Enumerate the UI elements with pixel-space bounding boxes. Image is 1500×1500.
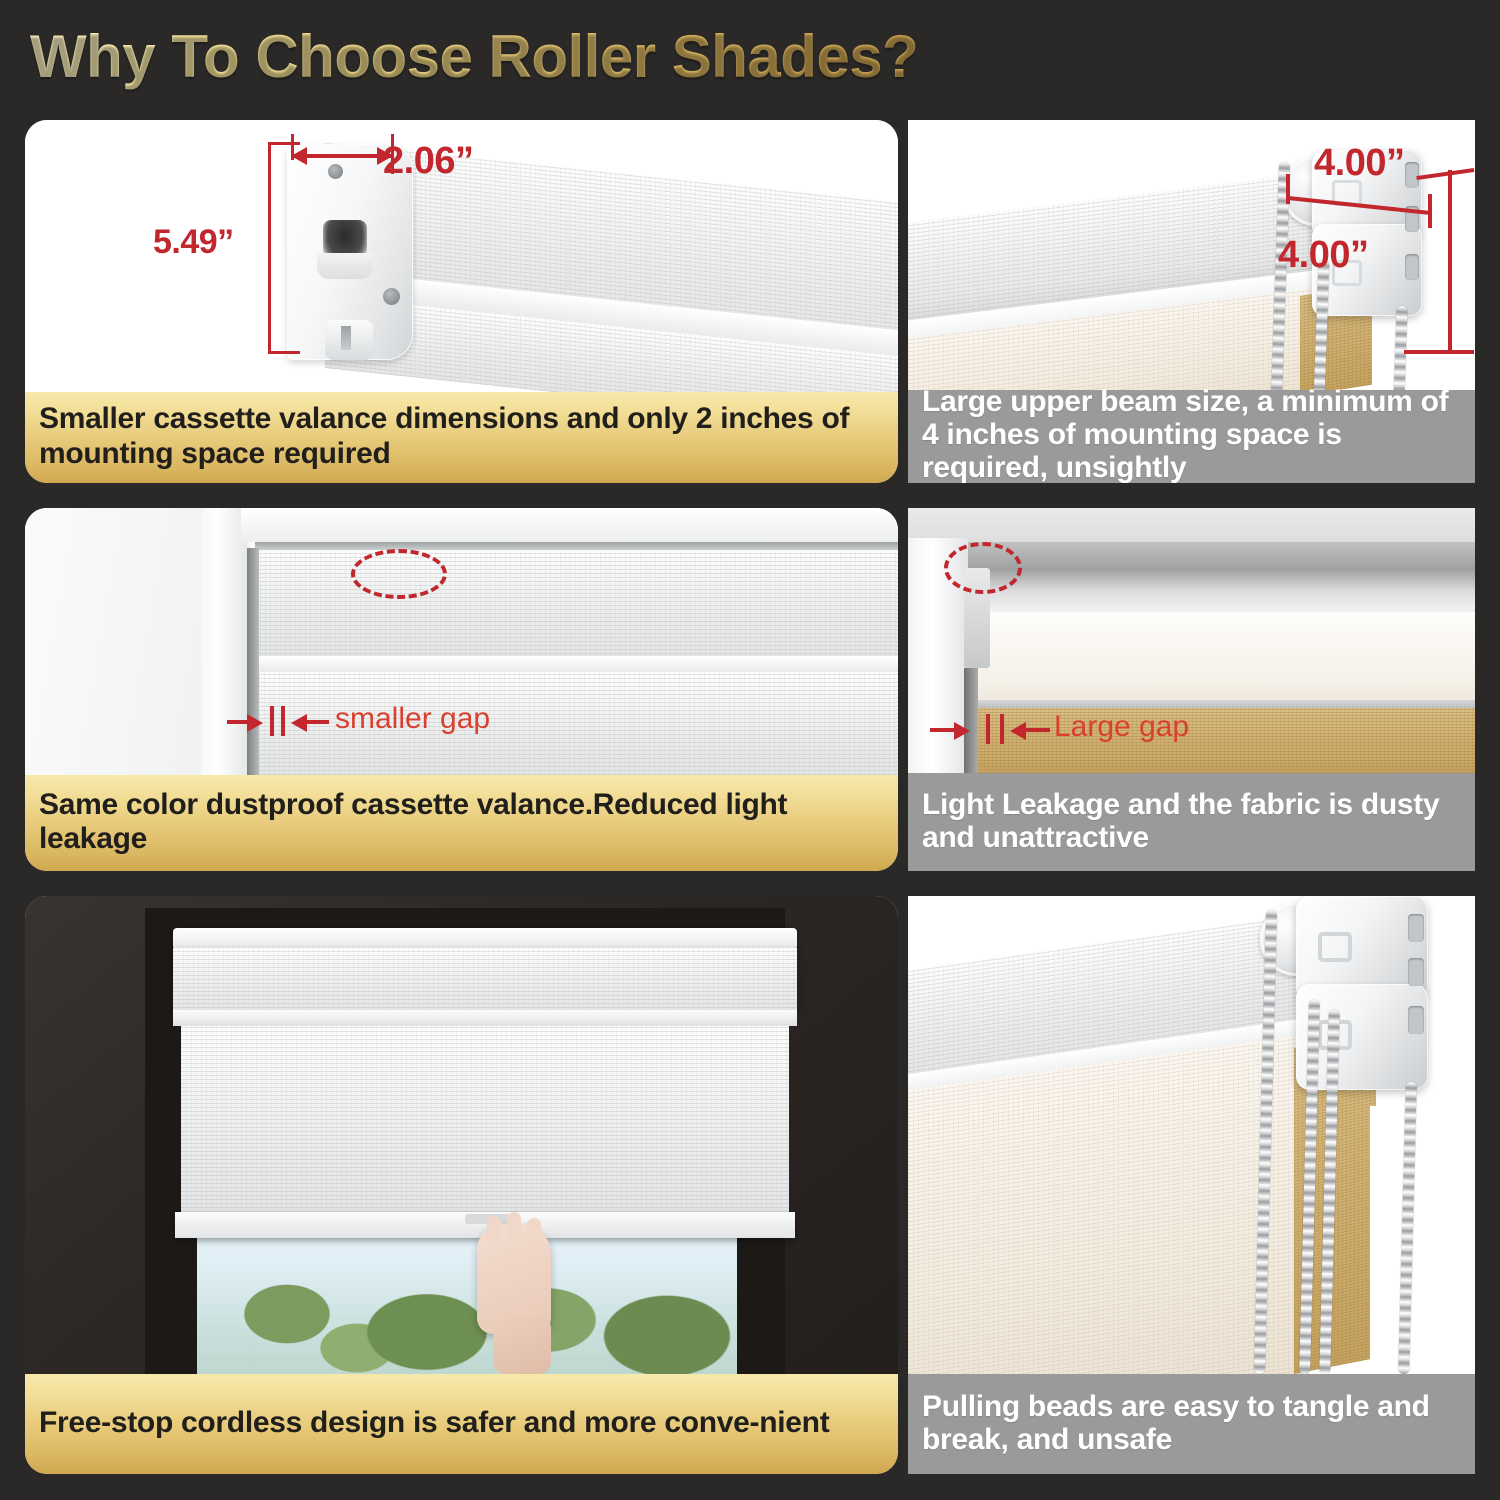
bracket-slot-1 xyxy=(1408,914,1424,942)
beam-width-label: 4.00” xyxy=(1314,142,1404,185)
highlight-ring xyxy=(351,549,447,599)
fabric-white-band xyxy=(964,612,1475,704)
width-dimension-label: 2.06” xyxy=(383,140,473,183)
clutch-shroud xyxy=(317,253,373,279)
panel-6-photo xyxy=(908,896,1475,1374)
screw-middle-icon xyxy=(383,288,400,305)
valance-top-edge xyxy=(255,542,898,550)
highlight-ring xyxy=(944,542,1022,594)
beam-height-line xyxy=(1448,170,1452,352)
finger-3 xyxy=(527,1218,541,1244)
panel-6-caption: Pulling beads are easy to tangle and bre… xyxy=(908,1374,1475,1474)
large-gap-label: Large gap xyxy=(1054,710,1189,744)
screw-top-icon xyxy=(328,164,343,179)
bottom-bracket-pin xyxy=(341,326,351,350)
gap-arrow-right-icon xyxy=(954,722,970,740)
tan-fabric xyxy=(968,708,1475,773)
bracket-emboss-1-icon xyxy=(1318,932,1352,962)
panel-3-caption-text: Same color dustproof cassette valance.Re… xyxy=(39,788,884,856)
panel-pulling-beads: Pulling beads are easy to tangle and bre… xyxy=(908,896,1475,1474)
gap-arrow-left-tail xyxy=(1026,728,1050,732)
height-dimension-label: 5.49” xyxy=(153,223,234,262)
gap-arrow-right-tail xyxy=(930,728,956,732)
smaller-gap-label: smaller gap xyxy=(335,702,490,736)
tree-foliage xyxy=(197,1262,737,1374)
beam-width-tick-right xyxy=(1428,194,1432,228)
large-gap-shadow xyxy=(964,668,978,773)
panel-5-photo xyxy=(25,896,898,1374)
panel-2-caption-text: Large upper beam size, a minimum of 4 in… xyxy=(922,385,1461,483)
valance-top-cap xyxy=(173,928,797,950)
panel-1-caption: Smaller cassette valance dimensions and … xyxy=(25,392,898,483)
panel-light-leakage: Large gap Light Leakage and the fabric i… xyxy=(908,508,1475,871)
bracket-slot-3 xyxy=(1408,1006,1424,1034)
panel-2-caption: Large upper beam size, a minimum of 4 in… xyxy=(908,390,1475,483)
background-right xyxy=(1370,1106,1475,1374)
panel-3-caption: Same color dustproof cassette valance.Re… xyxy=(25,775,898,871)
gap-tick-b xyxy=(1000,714,1004,744)
cassette-valance xyxy=(255,546,898,658)
panel-4-caption: Light Leakage and the fabric is dusty an… xyxy=(908,773,1475,871)
panel-5-caption: Free-stop cordless design is safer and m… xyxy=(25,1374,898,1474)
height-dimension-line xyxy=(268,142,271,354)
panel-5-caption-text: Free-stop cordless design is safer and m… xyxy=(39,1406,884,1440)
panel-cordless-design: Free-stop cordless design is safer and m… xyxy=(25,896,898,1474)
panel-large-upper-beam: 4.00” 4.00” Large upper beam size, a min… xyxy=(908,120,1475,483)
beam-height-tick-top xyxy=(1416,168,1474,180)
finger-1 xyxy=(487,1216,501,1244)
width-tick-left xyxy=(291,134,294,160)
gap-tick-a xyxy=(986,714,990,744)
gap-tick-a xyxy=(270,706,274,736)
beam-height-tick-bottom xyxy=(1404,350,1474,354)
beam-width-tick-left xyxy=(1286,174,1290,204)
bracket-slot-2 xyxy=(1408,958,1424,986)
window-frame-vertical xyxy=(201,508,247,775)
shade-fabric-main xyxy=(181,1026,789,1216)
bead-chain-rear xyxy=(1393,306,1407,390)
gap-arrow-right-tail xyxy=(227,720,249,724)
height-tick-top xyxy=(268,142,300,145)
beam-height-label: 4.00” xyxy=(1278,234,1368,277)
valance-bottom-lip xyxy=(255,656,898,672)
gap-tick-b xyxy=(281,706,285,736)
wall-left xyxy=(25,508,215,775)
valance-lower-lip xyxy=(173,1010,797,1026)
panel-6-caption-text: Pulling beads are easy to tangle and bre… xyxy=(922,1390,1461,1456)
finger-2 xyxy=(507,1212,521,1244)
panel-1-photo: 2.06” 5.49” xyxy=(25,120,898,392)
exposed-roller-tube xyxy=(964,542,1475,614)
valance-face xyxy=(173,948,797,1012)
panel-4-photo: Large gap xyxy=(908,508,1475,773)
comparison-grid: 2.06” 5.49” Smaller cassette valance dim… xyxy=(0,0,1500,1500)
side-gap-shadow xyxy=(247,548,259,775)
gap-arrow-left-icon xyxy=(291,714,307,732)
gap-arrow-left-tail xyxy=(307,720,329,724)
shade-fabric xyxy=(908,1034,1308,1374)
window-frame-header xyxy=(241,508,898,542)
panel-2-photo: 4.00” 4.00” xyxy=(908,120,1475,390)
bracket-slot-3 xyxy=(1405,254,1419,280)
wrist xyxy=(493,1316,551,1374)
gap-arrow-right-icon xyxy=(247,714,263,732)
panel-1-caption-text: Smaller cassette valance dimensions and … xyxy=(39,402,884,470)
panel-4-caption-text: Light Leakage and the fabric is dusty an… xyxy=(922,788,1461,854)
height-tick-bottom xyxy=(268,351,300,354)
panel-3-photo: smaller gap xyxy=(25,508,898,775)
panel-dustproof-cassette: smaller gap Same color dustproof cassett… xyxy=(25,508,898,871)
panel-smaller-cassette: 2.06” 5.49” Smaller cassette valance dim… xyxy=(25,120,898,483)
gap-arrow-left-icon xyxy=(1010,722,1026,740)
ceiling-band xyxy=(908,508,1475,544)
